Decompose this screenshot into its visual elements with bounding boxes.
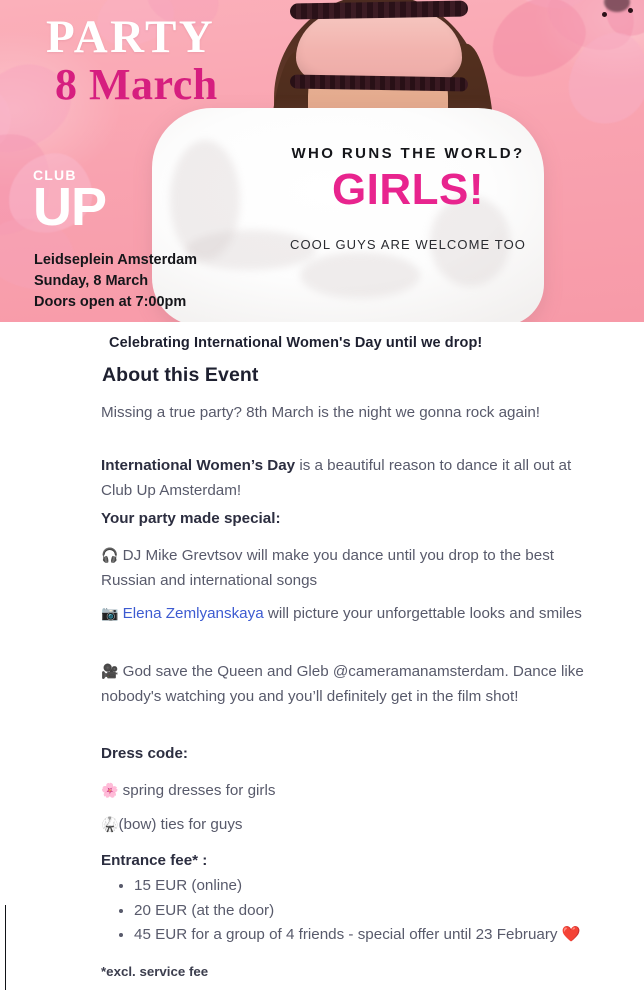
paragraph-photographer: 📷 Elena Zemlyanskaya will picture your u…: [101, 602, 587, 627]
pillow-fold: [170, 140, 240, 260]
entrance-fee-heading: Entrance fee* :: [101, 852, 207, 869]
special-heading-text: Your party made special:: [101, 510, 281, 527]
logo-up-text: UP: [33, 183, 106, 233]
photographer-link[interactable]: Elena Zemlyanskaya: [123, 605, 264, 622]
sleep-mask-frill: [290, 0, 468, 19]
dress-code-girls-text: spring dresses for girls: [118, 782, 275, 799]
event-tagline: Celebrating International Women's Day un…: [109, 335, 482, 351]
banner-title: PARTY: [46, 14, 215, 61]
dress-code-heading-text: Dress code:: [101, 745, 188, 762]
camera-icon: 📷: [101, 606, 118, 622]
venue-info: Leidseplein Amsterdam Sunday, 8 March Do…: [34, 250, 197, 313]
slogan-subline: COOL GUYS ARE WELCOME TOO: [258, 238, 558, 251]
special-heading: Your party made special:: [101, 507, 587, 532]
left-vertical-rule: [5, 905, 6, 990]
club-up-logo: CLUB UP: [33, 168, 106, 233]
paragraph-womens-day: International Women’s Day is a beautiful…: [101, 454, 587, 504]
paragraph-videographer: 🎥 God save the Queen and Gleb @cameraman…: [101, 660, 587, 710]
bowtie-icon: 🥋: [101, 817, 118, 833]
dress-code-heading: Dress code:: [101, 742, 587, 767]
list-item: 45 EUR for a group of 4 friends - specia…: [134, 923, 587, 948]
list-item: 20 EUR (at the door): [134, 899, 587, 924]
dj-text: DJ Mike Grevtsov will make you dance unt…: [101, 547, 554, 589]
venue-doors: Doors open at 7:00pm: [34, 292, 197, 313]
cherry-blossom-icon: 🌸: [101, 783, 118, 799]
venue-location: Leidseplein Amsterdam: [34, 250, 197, 271]
slogan-kicker: WHO RUNS THE WORLD?: [258, 146, 558, 161]
paragraph-intro-text: Missing a true party? 8th March is the n…: [101, 404, 540, 421]
pillow-fold: [300, 252, 420, 298]
headphone-icon: 🎧: [101, 548, 118, 564]
venue-day: Sunday, 8 March: [34, 271, 197, 292]
slogan-headline: GIRLS!: [258, 168, 558, 212]
pillow-slogan: WHO RUNS THE WORLD? GIRLS! COOL GUYS ARE…: [258, 146, 558, 251]
dress-code-guys-text: (bow) ties for guys: [118, 816, 242, 833]
dress-code-girls: 🌸 spring dresses for girls: [101, 779, 587, 804]
paragraph-intro: Missing a true party? 8th March is the n…: [101, 401, 587, 426]
list-item: 15 EUR (online): [134, 874, 587, 899]
videographer-text: God save the Queen and Gleb @cameramanam…: [101, 663, 584, 705]
movie-camera-icon: 🎥: [101, 664, 118, 680]
stamen: [602, 12, 607, 17]
event-hero-banner: PARTY 8 March CLUB UP Leidseplein Amster…: [0, 0, 644, 322]
dress-code-guys: 🥋(bow) ties for guys: [101, 813, 587, 838]
service-fee-footnote: *excl. service fee: [101, 964, 208, 979]
stamen: [628, 8, 633, 13]
entrance-fee-list: 15 EUR (online) 20 EUR (at the door) 45 …: [101, 874, 587, 948]
banner-date: 8 March: [55, 63, 218, 107]
paragraph-dj: 🎧 DJ Mike Grevtsov will make you dance u…: [101, 544, 587, 594]
womens-day-bold: International Women’s Day: [101, 457, 295, 474]
event-page: PARTY 8 March CLUB UP Leidseplein Amster…: [0, 0, 644, 990]
photographer-rest: will picture your unforgettable looks an…: [264, 605, 582, 622]
about-this-event-heading: About this Event: [102, 364, 259, 387]
